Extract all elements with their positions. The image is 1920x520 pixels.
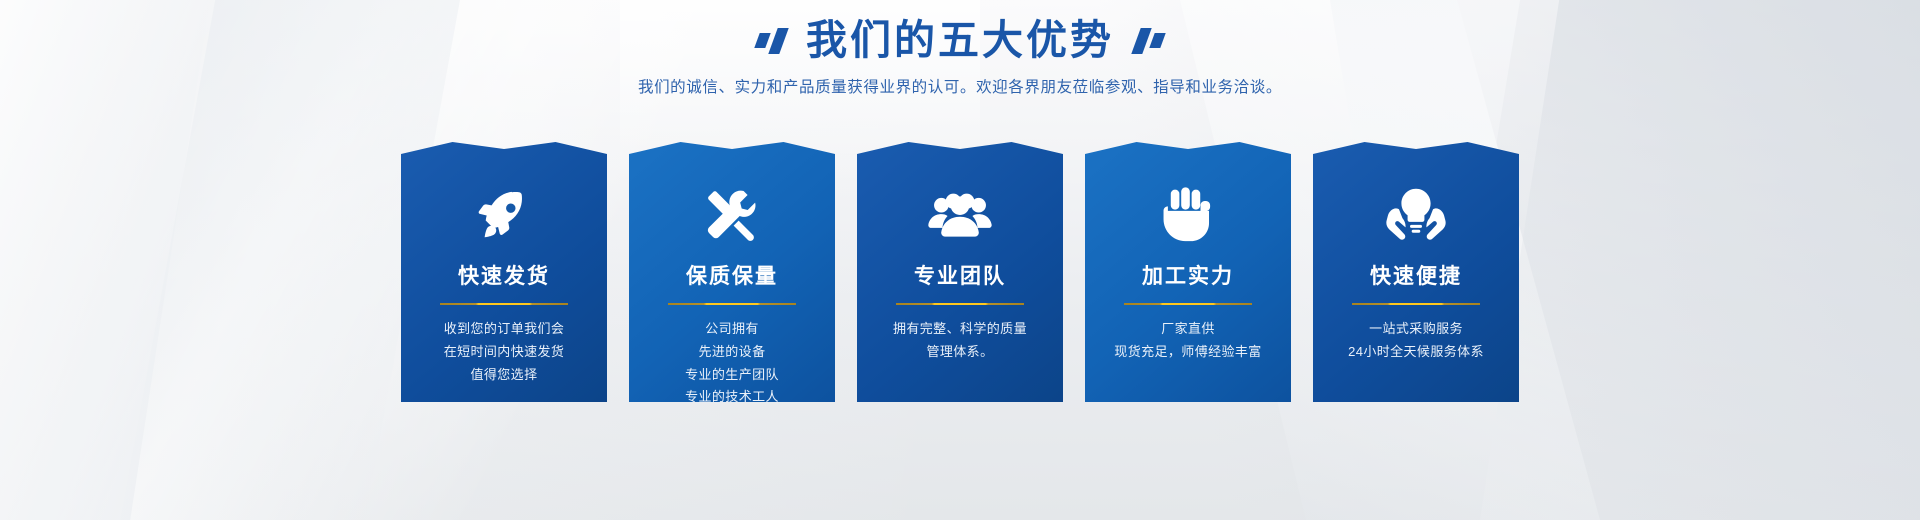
advantage-card[interactable]: 加工实力厂家直供现货充足，师傅经验丰富 (1085, 140, 1291, 402)
advantage-card-description: 厂家直供现货充足，师傅经验丰富 (1085, 318, 1291, 364)
advantage-card-description: 收到您的订单我们会在短时间内快速发货值得您选择 (401, 318, 607, 386)
advantage-card[interactable]: 快速便捷一站式采购服务24小时全天候服务体系 (1313, 140, 1519, 402)
tools-wrench-screwdriver-icon (629, 184, 835, 246)
advantage-card[interactable]: 专业团队拥有完整、科学的质量管理体系。 (857, 140, 1063, 402)
advantage-card-description: 公司拥有先进的设备专业的生产团队专业的技术工人 (629, 318, 835, 409)
page-subtitle: 我们的诚信、实力和产品质量获得业界的认可。欢迎各界朋友莅临参观、指导和业务洽谈。 (0, 75, 1920, 97)
advantage-card-description-line: 管理体系。 (857, 341, 1063, 364)
advantage-card-description-line: 值得您选择 (401, 364, 607, 387)
rocket-icon (401, 184, 607, 246)
advantage-card-title: 加工实力 (1085, 260, 1291, 290)
advantage-card-description-line: 现货充足，师傅经验丰富 (1085, 341, 1291, 364)
advantage-card-description: 拥有完整、科学的质量管理体系。 (857, 318, 1063, 364)
advantage-card-description-line: 收到您的订单我们会 (401, 318, 607, 341)
team-group-icon (857, 184, 1063, 246)
title-row: 我们的五大优势 (0, 18, 1920, 63)
lightbulb-hands-icon (1313, 184, 1519, 246)
advantage-card-title: 快速便捷 (1313, 260, 1519, 290)
page-title: 我们的五大优势 (806, 18, 1114, 63)
advantage-card-description-line: 拥有完整、科学的质量 (857, 318, 1063, 341)
advantage-card-description-line: 公司拥有 (629, 318, 835, 341)
advantage-card-title: 快速发货 (401, 260, 607, 290)
advantage-card-description: 一站式采购服务24小时全天候服务体系 (1313, 318, 1519, 364)
advantage-card-description-line: 一站式采购服务 (1313, 318, 1519, 341)
advantage-card-title: 保质保量 (629, 260, 835, 290)
gold-divider (668, 303, 796, 305)
advantage-card-description-line: 先进的设备 (629, 341, 835, 364)
advantage-card[interactable]: 保质保量公司拥有先进的设备专业的生产团队专业的技术工人 (629, 140, 835, 402)
gold-divider (1124, 303, 1252, 305)
advantage-card-description-line: 24小时全天候服务体系 (1313, 341, 1519, 364)
advantage-card-list: 快速发货收到您的订单我们会在短时间内快速发货值得您选择 保质保量公司拥有先进的设… (0, 140, 1920, 402)
advantage-card-description-line: 在短时间内快速发货 (401, 341, 607, 364)
diamond-bars-right-icon (1136, 28, 1163, 54)
advantage-card[interactable]: 快速发货收到您的订单我们会在短时间内快速发货值得您选择 (401, 140, 607, 402)
advantage-card-description-line: 专业的生产团队 (629, 364, 835, 387)
gold-divider (1352, 303, 1480, 305)
advantage-card-title: 专业团队 (857, 260, 1063, 290)
section-header: 我们的五大优势 我们的诚信、实力和产品质量获得业界的认可。欢迎各界朋友莅临参观、… (0, 18, 1920, 97)
gold-divider (440, 303, 568, 305)
diamond-bars-left-icon (757, 28, 784, 54)
advantage-card-description-line: 厂家直供 (1085, 318, 1291, 341)
fist-strength-icon (1085, 184, 1291, 246)
gold-divider (896, 303, 1024, 305)
